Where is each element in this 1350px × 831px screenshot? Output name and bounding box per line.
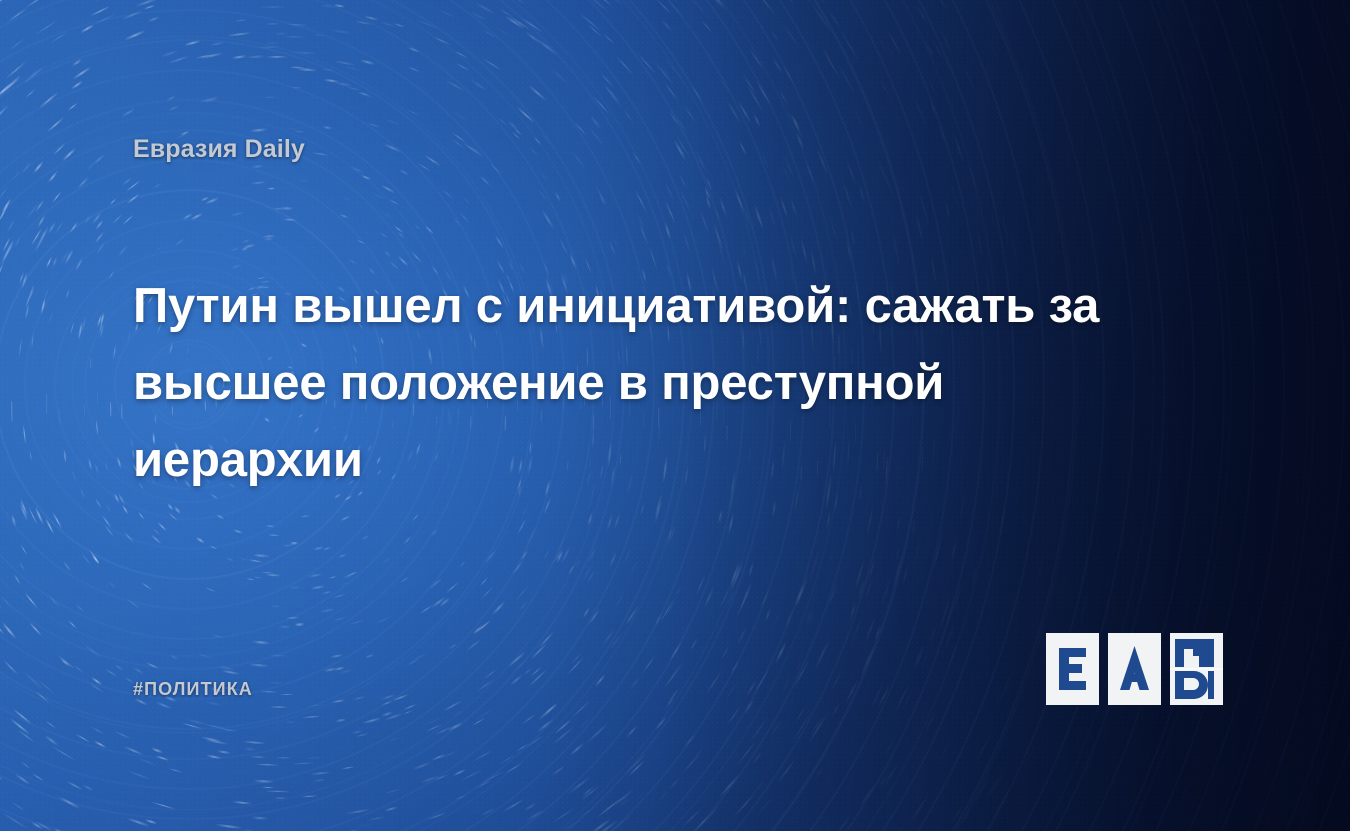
news-card: Евразия Daily Путин вышел с инициативой:… — [0, 0, 1350, 831]
brand-name: Евразия Daily — [133, 137, 305, 162]
card-content: Евразия Daily Путин вышел с инициативой:… — [0, 0, 1350, 831]
logo-tile-d — [1170, 633, 1223, 705]
logo-tile-a — [1108, 633, 1161, 705]
eadaily-logo — [1046, 633, 1223, 705]
category-tag: #ПОЛИТИКА — [133, 680, 253, 698]
headline: Путин вышел с инициативой: сажать за выс… — [133, 268, 1163, 499]
letter-a-icon — [1120, 646, 1149, 690]
logo-tile-e — [1046, 633, 1099, 705]
letter-e-icon — [1059, 648, 1086, 690]
letter-d-split-icon — [1175, 639, 1214, 699]
